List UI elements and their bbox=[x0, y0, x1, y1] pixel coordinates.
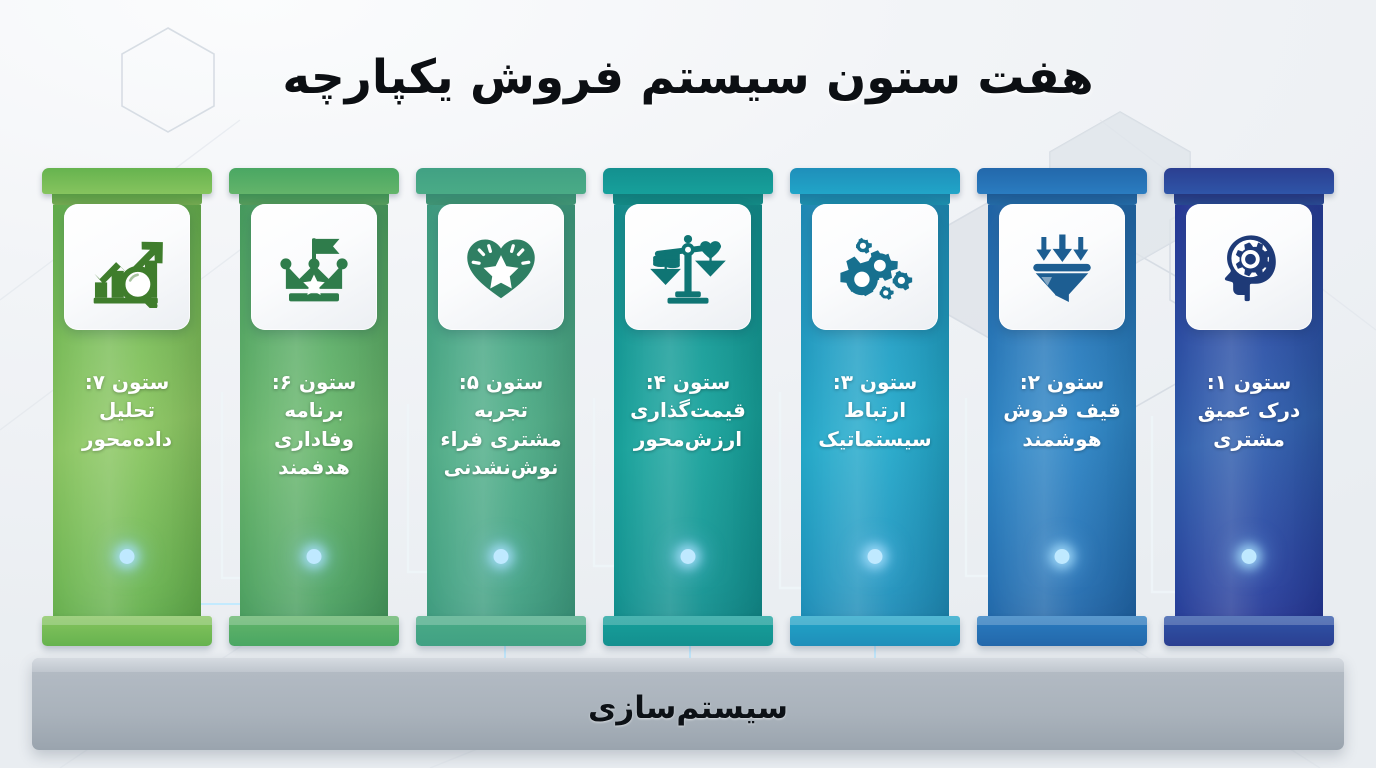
pillar-label: ستون ۵: تجربه مشتری فراء نوش‌نشدنی bbox=[433, 368, 569, 482]
pillar-3[interactable]: ستون ۳: ارتباط سیستماتیک bbox=[790, 168, 960, 646]
pillar-label: ستون ۲: قیف فروش هوشمند bbox=[994, 368, 1130, 453]
pillar-label: ستون ۴: قیمت‌گذاری ارزش‌محور bbox=[620, 368, 756, 453]
pillar-label: ستون ۶: برنامه وفاداری هدفمند bbox=[246, 368, 382, 482]
sales-funnel-icon[interactable] bbox=[999, 204, 1125, 330]
pillar-capital bbox=[977, 168, 1147, 194]
pillar-capital bbox=[42, 168, 212, 194]
infographic-stage: هفت ستون سیستم فروش یکپارچه bbox=[0, 0, 1376, 768]
pillar-capital bbox=[1164, 168, 1334, 194]
pillar-glow-node bbox=[120, 549, 135, 564]
pillar-capital bbox=[416, 168, 586, 194]
pillar-label: ستون ۳: ارتباط سیستماتیک bbox=[807, 368, 943, 453]
pillar-6[interactable]: ستون ۶: برنامه وفاداری هدفمند bbox=[229, 168, 399, 646]
growth-analysis-icon[interactable] bbox=[64, 204, 190, 330]
pillar-glow-node bbox=[307, 549, 322, 564]
pillar-7[interactable]: ستون ۷: تحلیل داده‌محور bbox=[42, 168, 212, 646]
pillar-5[interactable]: ستون ۵: تجربه مشتری فراء نوش‌نشدنی bbox=[416, 168, 586, 646]
pillar-plinth bbox=[603, 616, 773, 646]
pillar-4[interactable]: ستون ۴: قیمت‌گذاری ارزش‌محور bbox=[603, 168, 773, 646]
gears-icon[interactable] bbox=[812, 204, 938, 330]
pillar-glow-node bbox=[1055, 549, 1070, 564]
pillar-plinth bbox=[229, 616, 399, 646]
pillar-capital bbox=[790, 168, 960, 194]
pillar-capital bbox=[229, 168, 399, 194]
page-title: هفت ستون سیستم فروش یکپارچه bbox=[0, 52, 1376, 105]
pillar-glow-node bbox=[681, 549, 696, 564]
pillar-2[interactable]: ستون ۲: قیف فروش هوشمند bbox=[977, 168, 1147, 646]
pillar-1[interactable]: ستون ۱: درک عمیق مشتری bbox=[1164, 168, 1334, 646]
crown-flag-icon[interactable] bbox=[251, 204, 377, 330]
pillar-label: ستون ۷: تحلیل داده‌محور bbox=[59, 368, 195, 453]
pillar-glow-node bbox=[868, 549, 883, 564]
heart-star-icon[interactable] bbox=[438, 204, 564, 330]
pillar-plinth bbox=[416, 616, 586, 646]
pillars-row: ستون ۱: درک عمیق مشتری ستون ۲: قیف فروش bbox=[42, 168, 1334, 646]
base-platform: سیستم‌سازی bbox=[32, 658, 1344, 750]
pillar-glow-node bbox=[494, 549, 509, 564]
pillar-glow-node bbox=[1242, 549, 1257, 564]
base-platform-label: سیستم‌سازی bbox=[588, 690, 788, 726]
pillar-capital bbox=[603, 168, 773, 194]
pillar-plinth bbox=[790, 616, 960, 646]
head-gear-icon[interactable] bbox=[1186, 204, 1312, 330]
balance-scale-icon[interactable] bbox=[625, 204, 751, 330]
pillar-plinth bbox=[1164, 616, 1334, 646]
pillar-label: ستون ۱: درک عمیق مشتری bbox=[1181, 368, 1317, 453]
pillar-plinth bbox=[42, 616, 212, 646]
pillar-plinth bbox=[977, 616, 1147, 646]
